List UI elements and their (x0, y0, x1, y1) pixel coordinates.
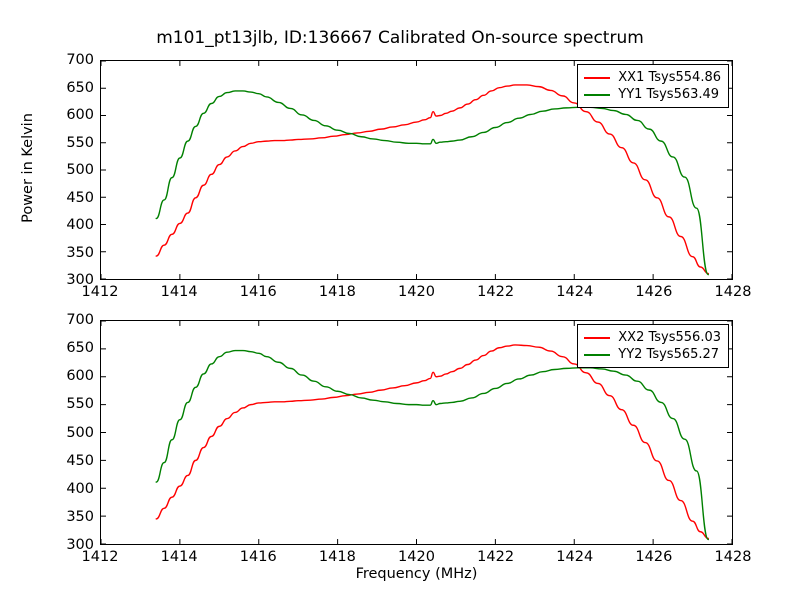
y-tick-label: 700 (66, 312, 94, 328)
x-tick-label: 1424 (556, 549, 593, 565)
x-tick-label: 1420 (398, 284, 435, 300)
legend-color-swatch (584, 354, 610, 356)
y-tick-label: 450 (66, 453, 94, 469)
x-axis-label: Frequency (MHz) (100, 566, 733, 582)
spectrum-line-top-0 (156, 85, 708, 274)
y-tick-label: 500 (66, 425, 94, 441)
legend-label: YY2 Tsys565.27 (618, 347, 719, 362)
y-tick-label: 450 (66, 190, 94, 206)
x-tick-label: 1412 (82, 549, 119, 565)
y-tick-label: 500 (66, 162, 94, 178)
x-tick-label: 1426 (635, 549, 672, 565)
y-tick-label: 350 (66, 509, 94, 525)
legend-color-swatch (584, 337, 610, 339)
legend-color-swatch (584, 77, 610, 79)
x-tick-label: 1416 (240, 284, 277, 300)
x-tick-label: 1422 (477, 549, 514, 565)
y-tick-label: 700 (66, 52, 94, 68)
x-tick-label: 1428 (715, 549, 752, 565)
x-tick-label: 1420 (398, 549, 435, 565)
plot-area-bottom: XX2 Tsys556.03YY2 Tsys565.27 (100, 320, 733, 545)
legend-label: XX1 Tsys554.86 (618, 70, 721, 85)
y-tick-label: 600 (66, 368, 94, 384)
legend-item: XX2 Tsys556.03 (584, 329, 721, 346)
y-tick-label: 350 (66, 245, 94, 261)
legend-item: YY2 Tsys565.27 (584, 346, 721, 363)
x-tick-label: 1416 (240, 549, 277, 565)
legend-label: XX2 Tsys556.03 (618, 330, 721, 345)
y-tick-label: 650 (66, 340, 94, 356)
x-tick-label: 1418 (319, 284, 356, 300)
plot-area-top: XX1 Tsys554.86YY1 Tsys563.49 (100, 60, 733, 280)
y-axis-ticks-bottom: 300350400450500550600650700 (52, 320, 94, 545)
figure-canvas: m101_pt13jlb, ID:136667 Calibrated On-so… (0, 0, 800, 600)
spectrum-line-bottom-0 (156, 345, 708, 538)
legend-item: YY1 Tsys563.49 (584, 86, 721, 103)
y-tick-label: 400 (66, 217, 94, 233)
x-tick-label: 1428 (715, 284, 752, 300)
legend-bottom: XX2 Tsys556.03YY2 Tsys565.27 (577, 324, 729, 368)
y-tick-label: 650 (66, 80, 94, 96)
legend-item: XX1 Tsys554.86 (584, 69, 721, 86)
x-tick-label: 1424 (556, 284, 593, 300)
legend-top: XX1 Tsys554.86YY1 Tsys563.49 (577, 64, 729, 108)
y-axis-label: Power in Kelvin (20, 78, 36, 258)
y-tick-label: 400 (66, 481, 94, 497)
legend-label: YY1 Tsys563.49 (618, 87, 719, 102)
y-tick-label: 550 (66, 396, 94, 412)
x-tick-label: 1422 (477, 284, 514, 300)
spectrum-line-top-1 (156, 91, 708, 275)
x-tick-label: 1414 (161, 549, 198, 565)
y-tick-label: 600 (66, 107, 94, 123)
y-axis-ticks-top: 300350400450500550600650700 (52, 60, 94, 280)
legend-color-swatch (584, 94, 610, 96)
x-tick-label: 1426 (635, 284, 672, 300)
x-tick-label: 1418 (319, 549, 356, 565)
x-tick-label: 1412 (82, 284, 119, 300)
spectrum-line-bottom-1 (156, 351, 708, 540)
y-tick-label: 550 (66, 135, 94, 151)
x-axis-ticks-top: 141214141416141814201422142414261428 (100, 284, 733, 304)
page-title: m101_pt13jlb, ID:136667 Calibrated On-so… (0, 28, 800, 48)
x-tick-label: 1414 (161, 284, 198, 300)
